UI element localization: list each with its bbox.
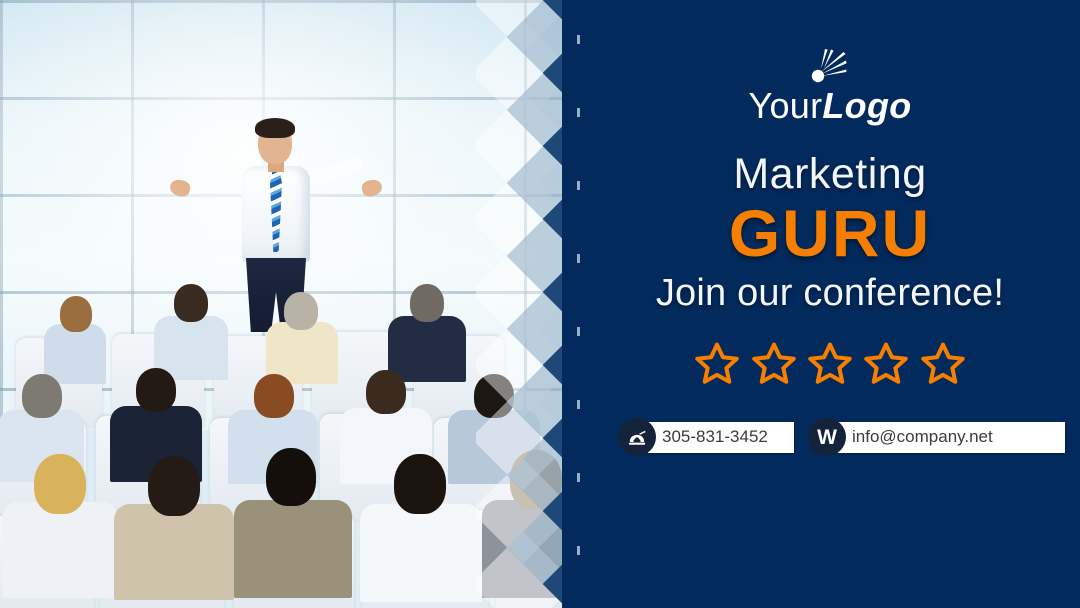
audience-member (250, 448, 334, 574)
audience-head (266, 448, 316, 506)
headline-line-marketing: Marketing (580, 152, 1080, 198)
audience-body (114, 504, 234, 600)
star-outline-icon (751, 340, 797, 386)
phone-value[interactable]: 305-831-3452 (648, 422, 794, 453)
audience-member (132, 456, 216, 576)
audience-head (148, 456, 200, 516)
audience-head (394, 454, 446, 514)
audience-body (234, 500, 352, 598)
website-w-icon: W (808, 418, 846, 456)
audience-member (378, 454, 462, 576)
audience-member (396, 284, 456, 368)
content-panel: YourLogo Marketing GURU Join our confere… (580, 0, 1080, 608)
telephone-icon (618, 418, 656, 456)
logo-text-bold: Logo (822, 85, 911, 126)
audience-head (366, 370, 406, 414)
star-outline-icon (694, 340, 740, 386)
email-value[interactable]: info@company.net (838, 422, 1065, 453)
contact-phone: 305-831-3452 (618, 418, 794, 456)
speaker-hair (255, 118, 295, 138)
audience-body (2, 502, 118, 598)
audience-head (410, 284, 444, 322)
audience-member (122, 368, 188, 464)
headline-line-guru: GURU (580, 200, 1080, 267)
audience-head (34, 454, 86, 514)
star-rating (580, 340, 1080, 386)
audience-member (8, 374, 72, 466)
star-outline-icon (863, 340, 909, 386)
marketing-banner: YourLogo Marketing GURU Join our confere… (0, 0, 1080, 608)
audience-member (18, 454, 102, 574)
logo-text-light: Your (748, 85, 822, 126)
headline-subtitle: Join our conference! (580, 273, 1080, 315)
audience-member (160, 284, 220, 368)
audience-member (352, 370, 418, 466)
audience-head (254, 374, 294, 418)
speaker-arm-right (302, 155, 366, 188)
logo: YourLogo (580, 48, 1080, 124)
audience-head (22, 374, 62, 418)
audience-body (360, 504, 482, 602)
headline-block: Marketing GURU Join our conference! (580, 152, 1080, 315)
contact-email: W info@company.net (808, 418, 1065, 456)
burst-splash-icon (809, 48, 851, 84)
audience-member (46, 296, 102, 370)
audience-head (174, 284, 208, 322)
star-outline-icon (807, 340, 853, 386)
star-outline-icon (920, 340, 966, 386)
audience-head (136, 368, 176, 412)
logo-text: YourLogo (580, 88, 1080, 124)
audience-head (284, 292, 318, 330)
contact-bar: 305-831-3452 W info@company.net (580, 418, 1080, 456)
audience-head (60, 296, 92, 332)
w-letter: W (817, 427, 837, 448)
audience-member (272, 292, 330, 372)
